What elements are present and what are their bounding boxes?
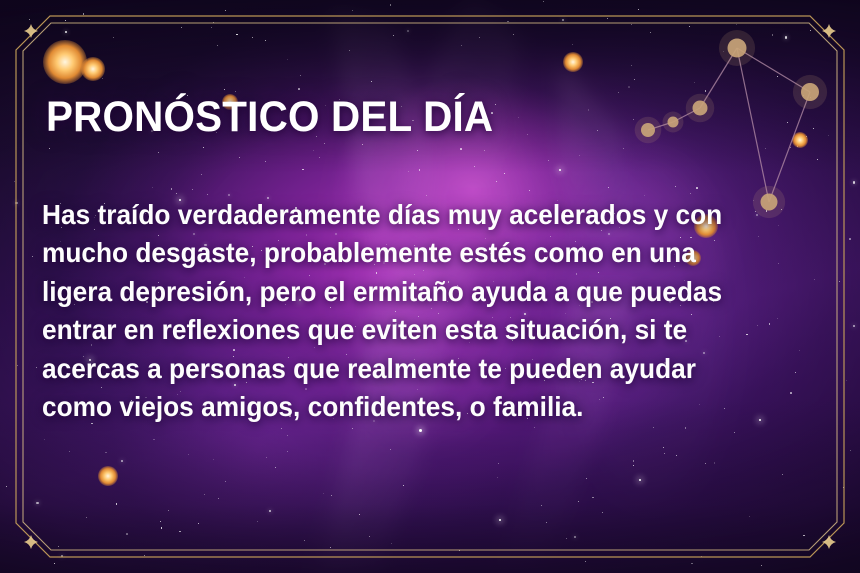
forecast-line: como viejos amigos, confidentes, o famil… bbox=[42, 388, 796, 426]
forecast-line: mucho desgaste, probablemente estés como… bbox=[42, 234, 796, 272]
forecast-body: Has traído verdaderamente días muy acele… bbox=[42, 196, 832, 426]
forecast-line: acercas a personas que realmente te pued… bbox=[42, 350, 796, 388]
forecast-line: Has traído verdaderamente días muy acele… bbox=[42, 196, 796, 234]
forecast-line: entrar en reflexiones que eviten esta si… bbox=[42, 311, 796, 349]
card-content: PRONÓSTICO DEL DÍA Has traído verdaderam… bbox=[0, 0, 860, 573]
pronostico-card: PRONÓSTICO DEL DÍA Has traído verdaderam… bbox=[0, 0, 860, 573]
forecast-line: ligera depresión, pero el ermitaño ayuda… bbox=[42, 273, 796, 311]
page-title: PRONÓSTICO DEL DÍA bbox=[46, 93, 493, 142]
